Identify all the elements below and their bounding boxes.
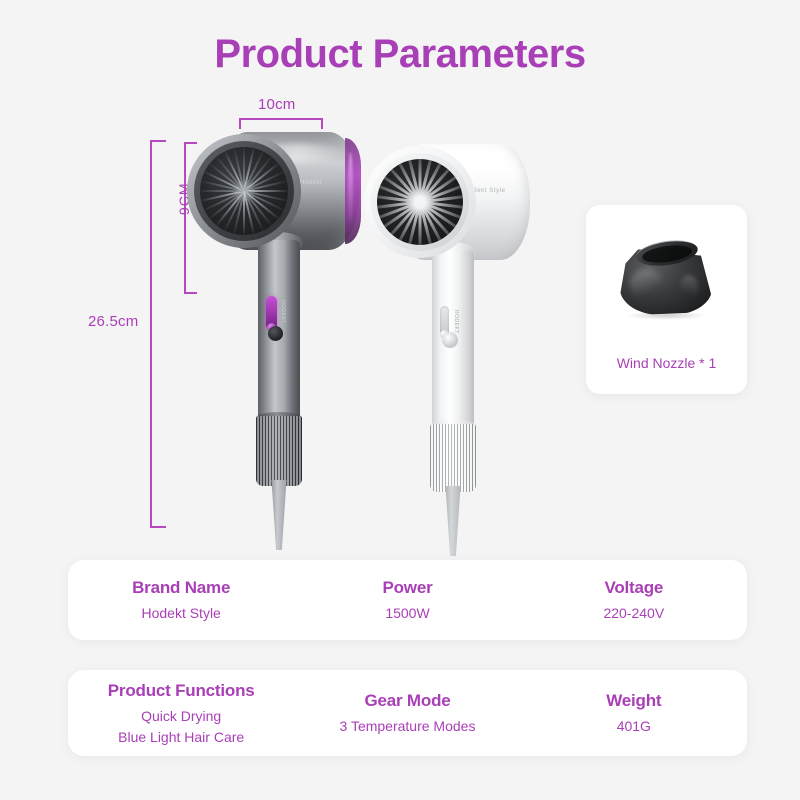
spec-cell-voltage: Voltage 220-240V: [521, 560, 747, 640]
spec-cell-gear-mode: Gear Mode 3 Temperature Modes: [294, 670, 520, 756]
page-title: Product Parameters: [0, 32, 800, 77]
spec-table-row-1: Brand Name Hodekt Style Power 1500W Volt…: [68, 560, 747, 640]
dryer-switch-label: HODEKT: [280, 300, 286, 324]
dryer-intake-grille: [377, 159, 463, 245]
spec-label: Product Functions: [108, 681, 255, 701]
nozzle-highlight-right: [680, 275, 698, 301]
spec-value: Quick DryingBlue Light Hair Care: [118, 706, 244, 747]
dimension-tick-bottom: [150, 526, 166, 528]
infographic-canvas: Product Parameters 26.5cm 9CM 10cm Hodek…: [0, 0, 800, 800]
dryer-fluted-grip: [256, 416, 302, 486]
product-image-dark-hair-dryer: Hodekt HODEKT: [185, 128, 365, 538]
spec-cell-power: Power 1500W: [294, 560, 520, 640]
dryer-rim-highlight: [348, 152, 353, 226]
spec-label: Voltage: [604, 578, 663, 598]
spec-value: 220-240V: [603, 603, 664, 623]
nozzle-highlight-left: [630, 269, 664, 299]
spec-cell-brand-name: Brand Name Hodekt Style: [68, 560, 294, 640]
spec-value: 1500W: [385, 603, 429, 623]
spec-value: 3 Temperature Modes: [340, 716, 476, 736]
dimension-label-total-height: 26.5cm: [88, 313, 138, 330]
dryer-cord-boot: [444, 486, 462, 556]
wind-nozzle-icon: [614, 235, 719, 325]
spec-label: Power: [382, 578, 432, 598]
dimension-line-vertical: [150, 140, 152, 528]
spec-cell-product-functions: Product Functions Quick DryingBlue Light…: [68, 670, 294, 756]
spec-label: Weight: [606, 691, 661, 711]
dimension-tick-top: [150, 140, 166, 142]
spec-table-row-2: Product Functions Quick DryingBlue Light…: [68, 670, 747, 756]
dryer-switch-label: HODEKT: [453, 310, 459, 334]
product-image-white-hair-dryer: Hodekt Style HODEKT: [362, 140, 537, 540]
accessory-label: Wind Nozzle * 1: [586, 355, 747, 371]
dryer-grille-hub: [268, 326, 283, 341]
dimension-label-width: 10cm: [258, 96, 295, 113]
spec-label: Brand Name: [132, 578, 230, 598]
spec-label: Gear Mode: [364, 691, 450, 711]
accessory-card-wind-nozzle: Wind Nozzle * 1: [586, 205, 747, 394]
dryer-intake-grille: [200, 147, 288, 235]
dryer-fluted-grip: [430, 424, 476, 492]
spec-cell-weight: Weight 401G: [521, 670, 747, 756]
dryer-cord-boot: [270, 480, 288, 550]
dimension-line-horizontal: [239, 118, 323, 120]
spec-value: Hodekt Style: [141, 603, 220, 623]
dryer-grille-hub: [442, 332, 458, 348]
spec-value: 401G: [617, 716, 651, 736]
